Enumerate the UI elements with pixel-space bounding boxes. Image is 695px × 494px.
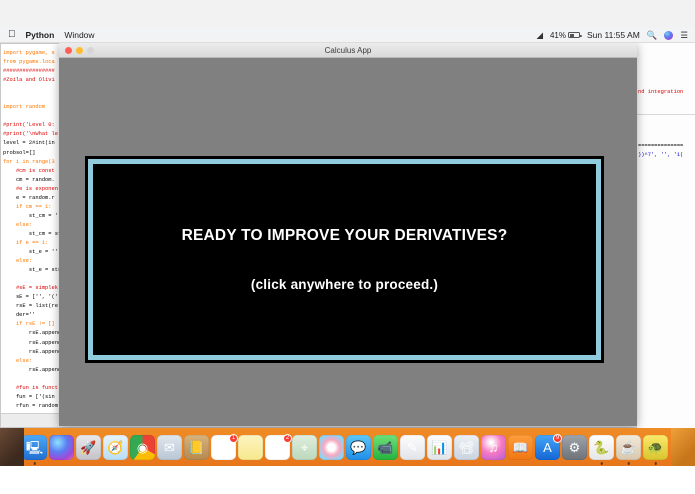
dock-icon-list[interactable]: 🖳🚀🧭◉✉📒21☰2⌖✸💬📹✎📊📽♫📖A9⚙🐍☕🐢📄☕🗑	[22, 434, 695, 460]
reminders-icon-glyph: ☰	[272, 441, 284, 454]
shell-line	[637, 79, 695, 88]
itunes-icon[interactable]: ♫	[481, 435, 506, 460]
dock-badge: 2	[283, 434, 292, 443]
shell-line: ==============	[637, 142, 695, 151]
calculus-app-title-bar[interactable]: Calculus App	[59, 43, 637, 58]
ibooks-icon-glyph: 📖	[512, 441, 528, 454]
running-indicator	[654, 462, 657, 465]
calendar-icon[interactable]: 21	[211, 435, 236, 460]
reminders-icon[interactable]: ☰2	[265, 435, 290, 460]
mail-icon[interactable]: ✉	[157, 435, 182, 460]
menubar-clock[interactable]: Sun 11:55 AM	[587, 30, 640, 40]
dock-left-edge	[0, 428, 24, 466]
running-indicator	[33, 462, 36, 465]
photos-icon[interactable]: ✸	[319, 435, 344, 460]
game-headline: READY TO IMPROVE YOUR DERIVATIVES?	[182, 227, 508, 245]
pages-icon-glyph: ✎	[407, 441, 418, 454]
dock-badge: 1	[229, 434, 238, 443]
system-preferences-icon[interactable]: ⚙	[562, 435, 587, 460]
pages-icon[interactable]: ✎	[400, 435, 425, 460]
contacts-icon-glyph: 📒	[188, 441, 204, 454]
mail-icon-glyph: ✉	[164, 441, 175, 454]
search-icon[interactable]: 🔍	[647, 30, 658, 41]
launchpad-icon[interactable]: 🚀	[76, 435, 101, 460]
game-canvas-content[interactable]: READY TO IMPROVE YOUR DERIVATIVES? (clic…	[93, 164, 596, 355]
numbers-icon[interactable]: 📊	[427, 435, 452, 460]
screenshot-bottom-margin	[0, 466, 695, 494]
window-title: Calculus App	[59, 46, 637, 55]
facetime-icon[interactable]: 📹	[373, 435, 398, 460]
menubar-item-window[interactable]: Window	[64, 30, 94, 40]
shell-line: nd integration	[637, 88, 695, 97]
game-canvas[interactable]: READY TO IMPROVE YOUR DERIVATIVES? (clic…	[85, 156, 604, 363]
game-subline: (click anywhere to proceed.)	[251, 277, 438, 292]
python-shell-pane[interactable]: nd integration ==============))^7', '', …	[636, 43, 695, 428]
shell-line	[637, 52, 695, 61]
safari-icon[interactable]: 🧭	[103, 435, 128, 460]
shell-line: ))^7', '', '1(	[637, 151, 695, 160]
calculus-app-window[interactable]: Calculus App READY TO IMPROVE YOUR DERIV…	[59, 43, 637, 426]
shell-line	[637, 106, 695, 115]
calculus-app-body[interactable]: READY TO IMPROVE YOUR DERIVATIVES? (clic…	[59, 58, 637, 426]
game-canvas-blue-frame: READY TO IMPROVE YOUR DERIVATIVES? (clic…	[88, 159, 601, 360]
itunes-icon-glyph: ♫	[489, 441, 499, 454]
app-store-icon[interactable]: A9	[535, 435, 560, 460]
keynote-icon[interactable]: 📽	[454, 435, 479, 460]
java-icon[interactable]: ☕	[616, 435, 641, 460]
menubar-app-name[interactable]: Python	[26, 30, 55, 40]
numbers-icon-glyph: 📊	[431, 441, 447, 454]
photos-icon-glyph: ✸	[326, 441, 337, 454]
shell-line	[637, 115, 695, 124]
ibooks-icon[interactable]: 📖	[508, 435, 533, 460]
wifi-icon[interactable]: ◢	[536, 30, 543, 41]
running-indicator	[600, 462, 603, 465]
dock[interactable]: 🖳🚀🧭◉✉📒21☰2⌖✸💬📹✎📊📽♫📖A9⚙🐍☕🐢📄☕🗑	[0, 428, 695, 466]
calendar-icon-glyph: 2	[220, 441, 227, 454]
shell-line	[637, 124, 695, 133]
battery-icon	[568, 32, 580, 38]
siri-icon[interactable]	[664, 31, 673, 40]
dock-right-edge	[671, 428, 695, 466]
shell-line	[637, 97, 695, 106]
siri-icon[interactable]	[49, 435, 74, 460]
chrome-icon-glyph: ◉	[137, 441, 148, 454]
python-idle-icon-glyph: 🐍	[593, 441, 609, 454]
facetime-icon-glyph: 📹	[377, 441, 393, 454]
messages-icon[interactable]: 💬	[346, 435, 371, 460]
maps-icon-glyph: ⌖	[301, 441, 308, 454]
python-idle-icon[interactable]: 🐍	[589, 435, 614, 460]
screen-root:  Python Window ◢ 41% Sun 11:55 AM 🔍 ☰ i…	[0, 0, 695, 494]
finder-icon-glyph: 🖳	[26, 441, 43, 454]
apple-logo-icon[interactable]: 	[8, 30, 16, 40]
contacts-icon[interactable]: 📒	[184, 435, 209, 460]
dock-badge: 9	[553, 434, 562, 443]
java-icon-glyph: ☕	[620, 441, 636, 454]
battery-percent-label: 41%	[550, 31, 566, 40]
chrome-icon[interactable]: ◉	[130, 435, 155, 460]
notes-icon[interactable]	[238, 435, 263, 460]
shell-line	[637, 70, 695, 79]
launchpad-icon-glyph: 🚀	[80, 441, 96, 454]
keynote-icon-glyph: 📽	[458, 441, 475, 454]
system-preferences-icon-glyph: ⚙	[569, 441, 581, 454]
turtle-icon[interactable]: 🐢	[643, 435, 668, 460]
turtle-icon-glyph: 🐢	[647, 441, 663, 454]
notification-center-icon[interactable]: ☰	[680, 30, 688, 41]
shell-line	[637, 43, 695, 52]
running-indicator	[627, 462, 630, 465]
shell-line	[637, 133, 695, 142]
messages-icon-glyph: 💬	[350, 441, 366, 454]
battery-status[interactable]: 41%	[550, 31, 580, 40]
mac-menu-bar:  Python Window ◢ 41% Sun 11:55 AM 🔍 ☰	[0, 28, 695, 43]
shell-line	[637, 61, 695, 70]
safari-icon-glyph: 🧭	[107, 441, 123, 454]
finder-icon[interactable]: 🖳	[22, 435, 47, 460]
maps-icon[interactable]: ⌖	[292, 435, 317, 460]
app-store-icon-glyph: A	[543, 441, 552, 454]
